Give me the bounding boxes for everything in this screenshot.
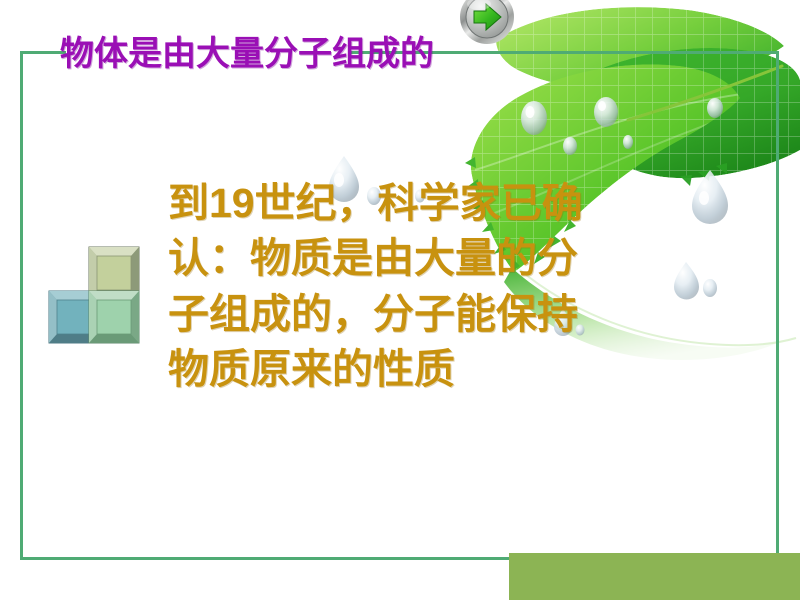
green-corner-block (509, 553, 800, 600)
frame-left-line (20, 52, 23, 560)
cube-mint (89, 291, 139, 343)
frame-bottom-line (20, 557, 510, 560)
page-title: 物体是由大量分子组成的 (60, 36, 434, 73)
body-paragraph: 到19世纪，科学家已确认：物质是由大量的分子组成的，分子能保持物质原来的性质 (168, 176, 598, 397)
slide-canvas: 物体是由大量分子组成的 (0, 0, 800, 600)
frame-right-line-lower (776, 113, 779, 555)
play-arrow-icon[interactable] (459, 0, 515, 45)
beveled-cubes-decoration (47, 245, 147, 355)
frame-right-line-upper (776, 51, 779, 113)
